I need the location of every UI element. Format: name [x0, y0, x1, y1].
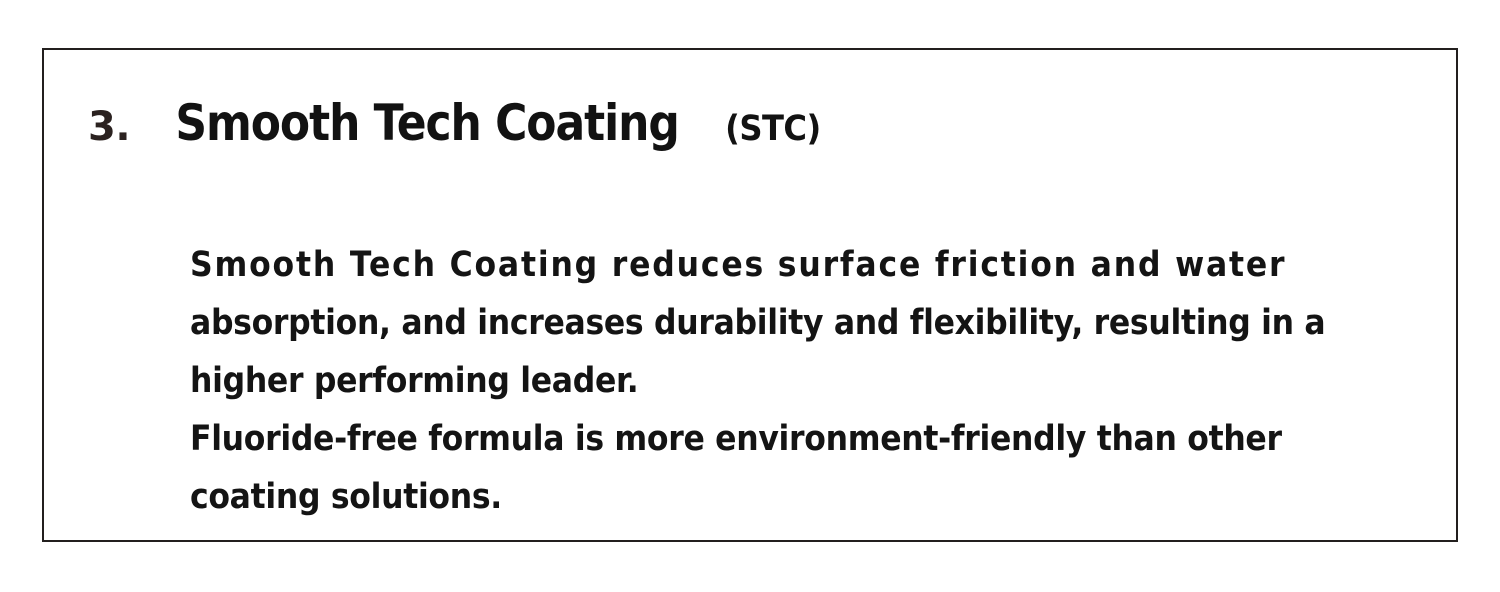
section-number: 3.: [88, 107, 130, 147]
section-heading: 3. Smooth Tech Coating (STC): [88, 98, 825, 148]
slide-canvas: 3. Smooth Tech Coating (STC) Smooth Tech…: [0, 0, 1500, 592]
body-line: Fluoride-free formula is more environmen…: [190, 410, 1279, 468]
body-text-block: Smooth Tech Coating reduces surface fric…: [190, 236, 1400, 526]
body-line: coating solutions.: [190, 468, 1279, 526]
section-abbreviation: (STC): [725, 112, 820, 147]
page-title: Smooth Tech Coating: [175, 98, 678, 148]
content-box: 3. Smooth Tech Coating (STC) Smooth Tech…: [42, 48, 1458, 542]
body-line: higher performing leader.: [190, 352, 1279, 410]
body-line: Smooth Tech Coating reduces surface fric…: [190, 236, 1279, 294]
body-line: absorption, and increases durability and…: [190, 294, 1279, 352]
